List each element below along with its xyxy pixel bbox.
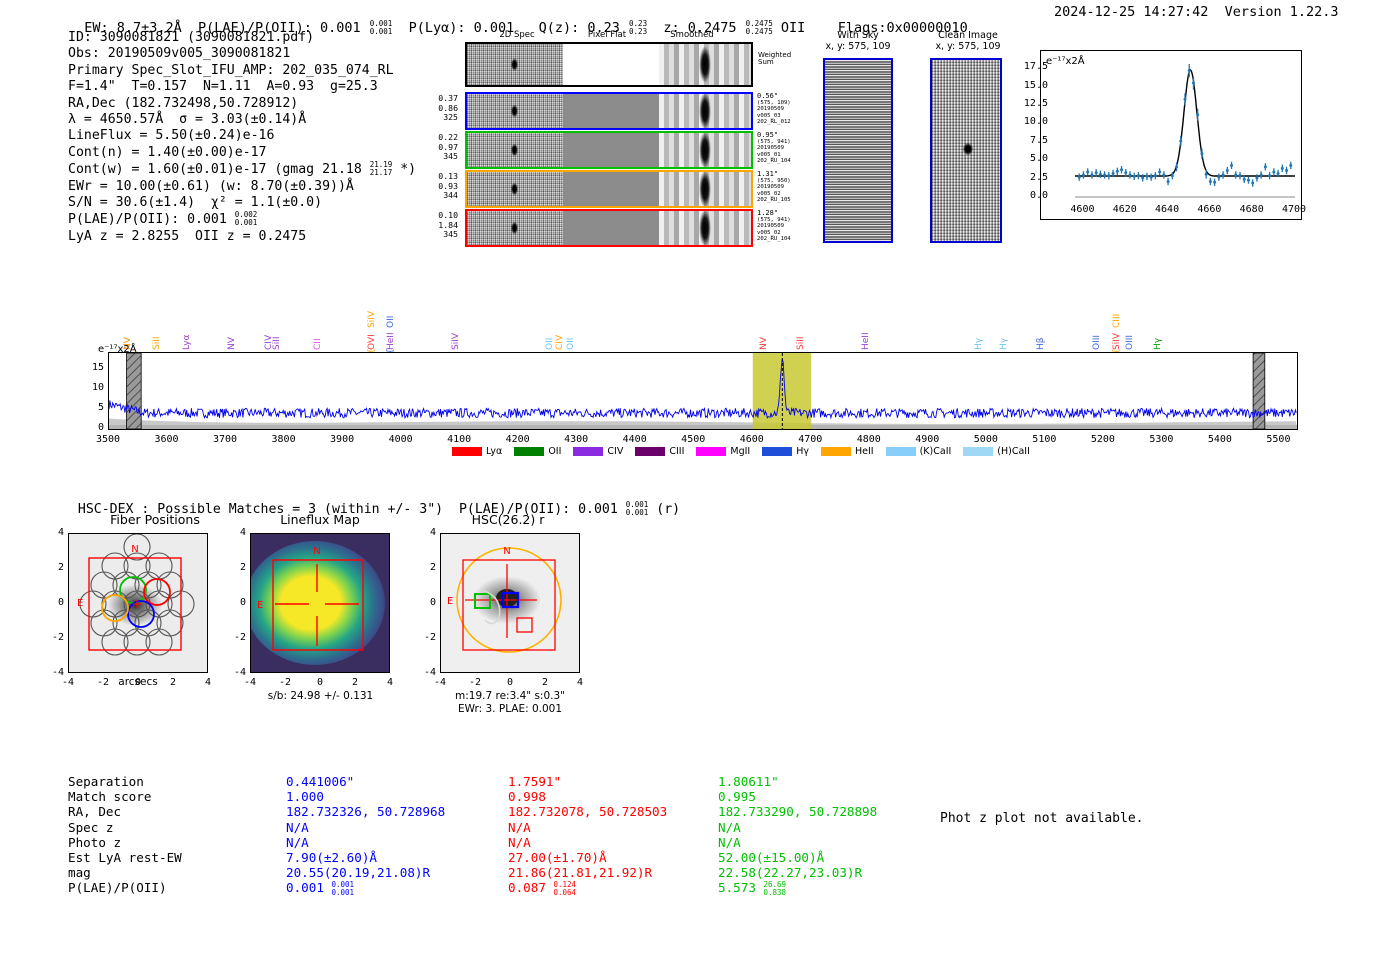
match-table-cell: 1.80611": [718, 774, 779, 789]
match-table-row-label: mag: [68, 865, 91, 880]
spectrum-xtick: 5200: [1079, 434, 1127, 445]
spec2d-row-right-labels: 1.31"(575, 950)20190509v005_02202_RU_105: [757, 171, 817, 204]
fiber-ytick: 2: [42, 562, 64, 573]
hsc-ytick: 4: [414, 527, 436, 538]
spec2d-row-left-labels: 0.220.97345: [420, 133, 458, 162]
param-redshifts: LyA z = 2.8255 OII z = 0.2475: [68, 229, 416, 245]
legend-label: HeII: [855, 446, 874, 457]
emission-xtick: 4600: [1060, 204, 1104, 215]
spectrum-xtick: 4900: [903, 434, 951, 445]
svg-text:E: E: [77, 598, 83, 609]
hsc-ytick: -2: [414, 632, 436, 643]
spectrum-xtick: 5300: [1137, 434, 1185, 445]
lineflux-xtick: -4: [234, 677, 266, 688]
legend-swatch: [573, 447, 603, 456]
line-id-label: SiII: [272, 336, 282, 350]
legend-swatch: [886, 447, 916, 456]
emission-xtick: 4640: [1145, 204, 1189, 215]
hsc-panel-title: HSC(26.2) r: [428, 512, 588, 527]
line-id-label: CII: [313, 338, 323, 350]
match-table-cell: 1.7591": [508, 774, 561, 789]
spectrum-xtick: 4600: [728, 434, 776, 445]
svg-text:E: E: [447, 596, 453, 607]
emission-ytick: 10.0: [1012, 116, 1048, 127]
hsc-image: NE: [440, 533, 580, 673]
hsc-image-svg: NE: [441, 534, 579, 672]
emission-xtick: 4620: [1103, 204, 1147, 215]
param-snr-chi2: S/N = 30.6(±1.4) χ² = 1.1(±0.0): [68, 195, 416, 211]
emission-ytick: 2.5: [1012, 172, 1048, 183]
spectrum-xtick: 4100: [435, 434, 483, 445]
spec2d-title-2dspec: 2D Spec: [482, 30, 552, 40]
emission-ytick: 0.0: [1012, 190, 1048, 201]
spec2d-right-value: 20190509: [757, 145, 817, 152]
match-table-row-label: Match score: [68, 789, 151, 804]
lineflux-ytick: 4: [224, 527, 246, 538]
spec2d-right-value: 1.28": [757, 210, 817, 217]
spectrum-xtick: 4300: [552, 434, 600, 445]
match-table-cell: N/A: [286, 820, 309, 835]
legend-item: CIV: [573, 446, 623, 457]
legend-label: (K)CaII: [920, 446, 952, 457]
legend-label: CIII: [669, 446, 684, 457]
line-id-label: OIII: [1092, 335, 1102, 350]
spectrum-ytick: 15: [74, 362, 104, 373]
legend-item: MgII: [696, 446, 750, 457]
line-id-label: SiIV: [451, 333, 461, 350]
match-table-cell: 0.087 0.1240.064: [508, 880, 576, 897]
lineflux-xtick: -2: [269, 677, 301, 688]
match-table-cell: 21.86(21.81,21.92)R: [508, 865, 652, 880]
match-table-cell: 182.733290, 50.728898: [718, 804, 877, 819]
hsc-xtick: 2: [529, 677, 561, 688]
spec2d-row: [465, 92, 753, 130]
emission-xtick: 4660: [1187, 204, 1231, 215]
spectrum-xtick: 4400: [611, 434, 659, 445]
legend-label: MgII: [730, 446, 750, 457]
spectrum-xtick: 4200: [494, 434, 542, 445]
legend-label: Hγ: [796, 446, 809, 457]
param-cont-narrow: Cont(n) = 1.40(±0.00)e-17: [68, 145, 416, 161]
line-id-label: Hβ: [1036, 337, 1046, 350]
lineflux-ytick: 0: [224, 597, 246, 608]
param-lineflux: LineFlux = 5.50(±0.24)e-16: [68, 128, 416, 144]
lineflux-ytick: -4: [224, 667, 246, 678]
match-table-row-label: Est LyA rest-EW: [68, 850, 182, 865]
param-plae: P(LAE)/P(OII): 0.001 0.0020.001: [68, 211, 416, 228]
cell-smoothed: [659, 133, 751, 167]
emission-ytick: 15.0: [1012, 80, 1048, 91]
hsc-ytick: -4: [414, 667, 436, 678]
cell-2dspec: [467, 44, 563, 85]
match-table-cell: N/A: [718, 835, 741, 850]
spec2d-right-value: 20190509: [757, 223, 817, 230]
spectrum-xtick: 4800: [845, 434, 893, 445]
spectrum-xtick: 3600: [143, 434, 191, 445]
fiber-xtick: -2: [87, 677, 119, 688]
spec2d-row: [465, 170, 753, 208]
legend-item: (K)CaII: [886, 446, 952, 457]
cell-smoothed: [659, 44, 751, 85]
legend-label: OII: [548, 446, 561, 457]
match-table-cell: 7.90(±2.60)Å: [286, 850, 377, 865]
match-table-row-label: Photo z: [68, 835, 121, 850]
param-ewr: EWr = 10.00(±0.61) (w: 8.70(±0.39))Å: [68, 179, 416, 195]
legend-swatch: [821, 447, 851, 456]
line-id-label: OII: [545, 338, 555, 350]
fiber-positions-svg: NE: [69, 534, 207, 672]
legend-swatch: [635, 447, 665, 456]
lineflux-xtick: 4: [374, 677, 406, 688]
spec2d-left-value: 325: [420, 113, 458, 123]
lineflux-ytick: 2: [224, 562, 246, 573]
param-plae-bounds: 0.0020.001: [235, 211, 258, 227]
cutout-title-cleanimage: Clean Imagex, y: 575, 109: [925, 30, 1011, 52]
spec2d-right-value: 1.31": [757, 171, 817, 178]
spectrum-ytick: 0: [74, 422, 104, 433]
lineflux-ytick: -2: [224, 632, 246, 643]
line-id-label: Hγ: [999, 338, 1009, 350]
fiber-xtick: 0: [122, 677, 154, 688]
legend-swatch: [963, 447, 993, 456]
emission-line-plot-svg: [1041, 51, 1301, 219]
line-id-label: OIII: [1125, 335, 1135, 350]
emission-ytick: 17.5: [1012, 61, 1048, 72]
hsc-sub1: m:19.7 re:3.4" s:0.3": [425, 690, 595, 702]
spec2d-right-value: 202_RL_012: [757, 119, 817, 126]
match-table-cell: 20.55(20.19,21.08)R: [286, 865, 430, 880]
match-table-row-label: RA, Dec: [68, 804, 121, 819]
match-table-cell: 1.000: [286, 789, 324, 804]
full-spectrum-plot: [108, 352, 1298, 430]
spectrum-xtick: 3800: [260, 434, 308, 445]
spectral-line-id-labels: NV{SiII{Lyα{NV{CIV{SiII{CII{OVI{SiIV{HeI…: [0, 270, 1400, 350]
svg-text:N: N: [313, 546, 320, 557]
hsc-xtick: 4: [564, 677, 596, 688]
spectrum-xtick: 5000: [962, 434, 1010, 445]
match-table-cell: N/A: [508, 820, 531, 835]
spec2d-right-value: (575, 941): [757, 139, 817, 146]
gmag-bounds: 21.1921.17: [370, 161, 393, 177]
match-plae-bounds: 0.0010.001: [332, 881, 355, 897]
match-table-cell: N/A: [286, 835, 309, 850]
match-table-cell: 52.00(±15.00)Å: [718, 850, 824, 865]
legend-swatch: [762, 447, 792, 456]
line-id-label: NV: [227, 337, 237, 350]
match-plae-bounds: 0.1240.064: [554, 881, 577, 897]
line-id-label: OII: [566, 338, 576, 350]
line-id-label: Lyα: [182, 335, 192, 350]
spec2d-row-list: 0.370.863250.56"(575, 109)20190509v005_0…: [462, 92, 782, 252]
hscdex-plae-bounds: 0.0010.001: [626, 501, 649, 517]
legend-item: OII: [514, 446, 561, 457]
match-table-cell: 182.732078, 50.728503: [508, 804, 667, 819]
legend-item: CIII: [635, 446, 684, 457]
match-table-cell: 0.001 0.0010.001: [286, 880, 354, 897]
svg-text:N: N: [503, 546, 510, 557]
cell-pixelflat: [563, 172, 659, 206]
line-id-label: HeII: [861, 332, 871, 350]
spectrum-xtick: 3900: [318, 434, 366, 445]
spectrum-legend: LyαOIICIVCIIIMgIIHγHeII(K)CaII(H)CaII: [452, 446, 1038, 457]
emission-line-plot: [1040, 50, 1302, 220]
fiber-ytick: -2: [42, 632, 64, 643]
match-table-cell: N/A: [508, 835, 531, 850]
match-table-row-label: P(LAE)/P(OII): [68, 880, 167, 895]
cell-2dspec: [467, 94, 563, 128]
param-radec: RA,Dec (182.732498,50.728912): [68, 96, 416, 112]
cell-pixelflat: [563, 94, 659, 128]
legend-label: Lyα: [486, 446, 502, 457]
cell-smoothed: [659, 94, 751, 128]
spec2d-right-value: 20190509: [757, 106, 817, 113]
spectrum-ytick: 5: [74, 402, 104, 413]
z-bounds: 0.24750.2475: [746, 20, 773, 36]
emission-xtick: 4700: [1272, 204, 1316, 215]
legend-swatch: [452, 447, 482, 456]
spec2d-right-value: v005_03: [757, 113, 817, 120]
spectrum-unit-annotation: e⁻¹⁷x2Å: [98, 344, 137, 355]
line-id-label: Hγ: [1153, 338, 1163, 350]
emission-ytick: 12.5: [1012, 98, 1048, 109]
lineflux-panel-title: Lineflux Map: [240, 512, 400, 527]
fiber-ytick: 4: [42, 527, 64, 538]
fiber-ytick: -4: [42, 667, 64, 678]
spec2d-row-left-labels: 0.101.84345: [420, 211, 458, 240]
cell-2dspec: [467, 211, 563, 245]
spec2d-right-value: v005_02: [757, 191, 817, 198]
match-table-row-label: Separation: [68, 774, 144, 789]
line-id-label: Hγ: [974, 338, 984, 350]
line-id-label: NV: [759, 337, 769, 350]
svg-text:N: N: [131, 544, 138, 555]
cell-pixelflat: [563, 211, 659, 245]
spec2d-right-value: (575, 109): [757, 100, 817, 107]
cell-2dspec: [467, 133, 563, 167]
fiber-xtick: 4: [192, 677, 224, 688]
spec2d-row-right-labels: 0.95"(575, 941)20190509v005_01202_RU_104: [757, 132, 817, 165]
cell-smoothed: [659, 172, 751, 206]
cell-pixelflat: [563, 44, 659, 85]
lineflux-xtick: 0: [304, 677, 336, 688]
hsc-ytick: 0: [414, 597, 436, 608]
match-table-cell: 27.00(±1.70)Å: [508, 850, 607, 865]
legend-label: CIV: [607, 446, 623, 457]
spectrum-xtick: 4500: [669, 434, 717, 445]
spec2d-row-right-labels: 0.56"(575, 109)20190509v005_03202_RL_012: [757, 93, 817, 126]
photoz-note: Phot z plot not available.: [940, 811, 1144, 826]
spec2d-row-weighted-sum: [465, 42, 753, 87]
line-id-label: CIV: [555, 335, 565, 350]
fiber-xtick: -4: [52, 677, 84, 688]
spec2d-right-value: (575, 950): [757, 178, 817, 185]
spec2d-left-value: 344: [420, 191, 458, 201]
hsc-xtick: -4: [424, 677, 456, 688]
timestamp-version: 2024-12-25 14:27:42 Version 1.22.3: [1054, 4, 1338, 20]
fiber-ytick: 0: [42, 597, 64, 608]
spec2d-right-value: v005_02: [757, 230, 817, 237]
emission-ytick: 5.0: [1012, 153, 1048, 164]
spectrum-xtick: 4700: [786, 434, 834, 445]
legend-item: Lyα: [452, 446, 502, 457]
emission-ytick: 7.5: [1012, 135, 1048, 146]
line-id-label: SiIV: [367, 311, 377, 328]
spec2d-right-value: (575, 941): [757, 217, 817, 224]
match-table-row-label: Spec z: [68, 820, 114, 835]
match-table-cell: 22.58(22.27,23.03)R: [718, 865, 862, 880]
spec2d-row-right-labels: 1.28"(575, 941)20190509v005_02202_RU_104: [757, 210, 817, 243]
line-id-label: SiII: [152, 336, 162, 350]
spec2d-right-value: 202_RU_104: [757, 158, 817, 165]
emission-plot-unit-annotation: e⁻¹⁷x2Å: [1046, 56, 1085, 67]
spectrum-ytick: 10: [74, 382, 104, 393]
svg-text:E: E: [257, 600, 263, 611]
cell-pixelflat: [563, 133, 659, 167]
spectrum-xtick: 4000: [377, 434, 425, 445]
spec2d-right-value: 0.56": [757, 93, 817, 100]
lineflux-map-image: NE: [250, 533, 390, 673]
param-spec-slot: Primary Spec_Slot_IFU_AMP: 202_035_074_R…: [68, 63, 416, 79]
param-id: ID: 3090081821 (3090081821.pdf): [68, 30, 416, 46]
legend-swatch: [696, 447, 726, 456]
legend-item: HeII: [821, 446, 874, 457]
param-obs: Obs: 20190509v005_3090081821: [68, 46, 416, 62]
match-table-cell: 182.732326, 50.728968: [286, 804, 445, 819]
legend-swatch: [514, 447, 544, 456]
spectrum-xtick: 3700: [201, 434, 249, 445]
hsc-xtick: -2: [459, 677, 491, 688]
spec2d-row: [465, 209, 753, 247]
spectrum-xtick: 3500: [84, 434, 132, 445]
legend-label: (H)CaII: [997, 446, 1030, 457]
param-lambda-sigma: λ = 4650.57Å σ = 3.03(±0.14)Å: [68, 112, 416, 128]
spec2d-right-value: 0.95": [757, 132, 817, 139]
parameter-block: ID: 3090081821 (3090081821.pdf) Obs: 201…: [68, 30, 416, 245]
spec2d-title-pixelflat: Pixel Flat: [567, 30, 647, 40]
spec2d-right-value: 202_RU_105: [757, 197, 817, 204]
lineflux-xtick: 2: [339, 677, 371, 688]
lineflux-sub: s/b: 24.98 +/- 0.131: [238, 690, 403, 702]
cell-2dspec: [467, 172, 563, 206]
spec2d-title-smoothed: Smoothed: [652, 30, 732, 40]
weighted-sum-label: WeightedSum: [758, 52, 791, 65]
match-table-cell: 0.998: [508, 789, 546, 804]
spectrum-xtick: 5500: [1254, 434, 1302, 445]
spec2d-row-left-labels: 0.370.86325: [420, 94, 458, 123]
withsky-image: [823, 58, 893, 243]
full-spectrum-svg: [109, 353, 1297, 429]
cleanimage-image: [930, 58, 1002, 243]
param-cont-wide: Cont(w) = 1.60(±0.01)e-17 (gmag 21.18 21…: [68, 161, 416, 178]
spec2d-row-left-labels: 0.130.93344: [420, 172, 458, 201]
hsc-sub2: EWr: 3. PLAE: 0.001: [425, 703, 595, 715]
match-table-cell: 0.441006": [286, 774, 354, 789]
match-plae-bounds: 26.690.838: [764, 881, 787, 897]
hsc-xtick: 0: [494, 677, 526, 688]
hsc-ytick: 2: [414, 562, 436, 573]
spectrum-xtick: 5100: [1020, 434, 1068, 445]
spec2d-left-value: 345: [420, 152, 458, 162]
spectrum-xtick: 5400: [1196, 434, 1244, 445]
param-seeing: F=1.4" T=0.157 N=1.11 A=0.93 g=25.3: [68, 79, 416, 95]
cutout-title-withsky: With Skyx, y: 575, 109: [820, 30, 896, 52]
match-table-cell: 0.995: [718, 789, 756, 804]
spec2d-right-value: 202_RU_104: [757, 236, 817, 243]
spec2d-row: [465, 131, 753, 169]
cell-smoothed: [659, 211, 751, 245]
fiber-xtick: 2: [157, 677, 189, 688]
lineflux-map-svg: NE: [251, 534, 389, 672]
legend-item: (H)CaII: [963, 446, 1030, 457]
match-table-cell: 5.573 26.690.838: [718, 880, 786, 897]
spec2d-right-value: v005_01: [757, 152, 817, 159]
match-table-cell: N/A: [718, 820, 741, 835]
line-id-label: SiII: [796, 336, 806, 350]
spec2d-left-value: 345: [420, 230, 458, 240]
legend-item: Hγ: [762, 446, 809, 457]
line-id-label: OII: [386, 316, 396, 328]
line-id-label: CIII: [1112, 314, 1122, 328]
fiber-positions-image: NE: [68, 533, 208, 673]
fiber-panel-title: Fiber Positions: [62, 512, 248, 527]
emission-xtick: 4680: [1230, 204, 1274, 215]
spec2d-right-value: 20190509: [757, 184, 817, 191]
